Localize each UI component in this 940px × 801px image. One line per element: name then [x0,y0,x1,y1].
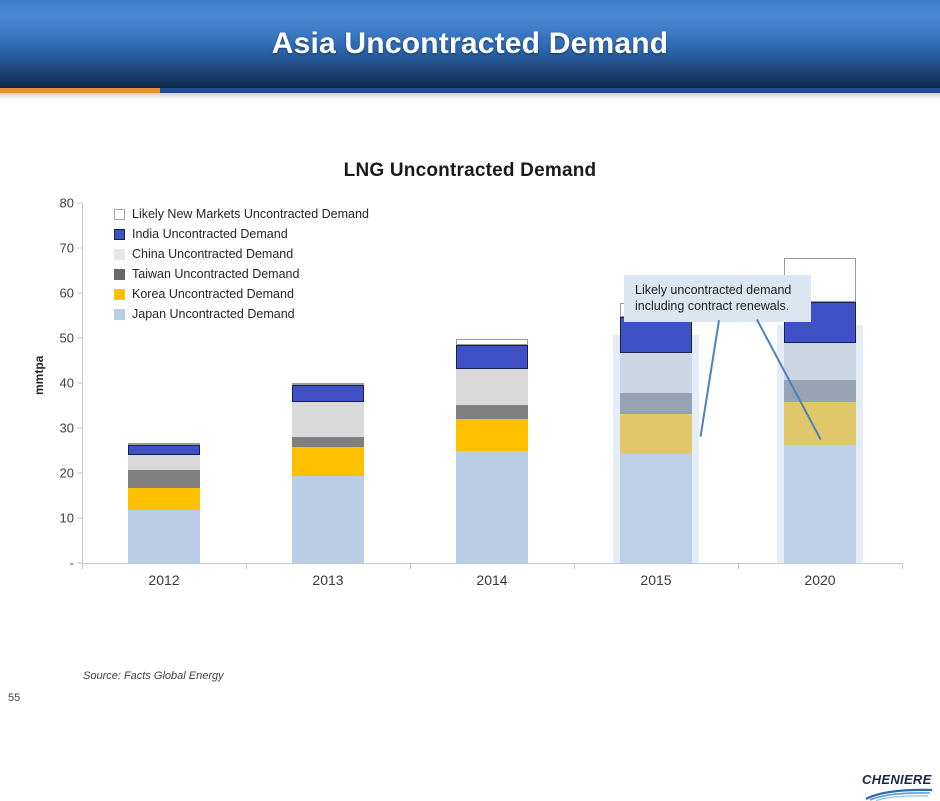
y-axis-tick-mark [77,383,82,384]
x-axis-tick-2020: 2020 [760,572,880,588]
bar-segment-china-2015[interactable] [620,353,692,393]
annotation-callout: Likely uncontracted demand including con… [624,275,811,322]
legend-item-china[interactable]: China Uncontracted Demand [114,244,369,264]
y-axis-tick-50: 50 [60,331,74,346]
legend-swatch-china-icon [114,249,125,260]
chart-legend: Likely New Markets Uncontracted DemandIn… [114,204,369,324]
banner-drop-shadow [0,93,940,100]
bar-segment-taiwan-2013[interactable] [292,437,364,447]
legend-item-newmk[interactable]: Likely New Markets Uncontracted Demand [114,204,369,224]
bar-segment-taiwan-2014[interactable] [456,405,528,420]
y-axis-tick-mark [77,518,82,519]
y-axis-tick-mark [77,428,82,429]
x-axis-tick-mark [246,563,247,569]
y-axis-tick-60: 60 [60,286,74,301]
y-axis-tick-30: 30 [60,421,74,436]
logo-wordmark: CHENIERE [862,772,932,787]
slide-body: LNG Uncontracted Demand mmtpa -102030405… [0,100,940,705]
bar-segment-japan-2020[interactable] [784,445,856,563]
bar-segment-india-2012[interactable] [128,445,200,455]
bar-segment-china-2013[interactable] [292,402,364,437]
chart-container: LNG Uncontracted Demand mmtpa -102030405… [18,160,922,660]
y-axis-tick-70: 70 [60,241,74,256]
bar-segment-korea-2014[interactable] [456,419,528,451]
bar-segment-india-2014[interactable] [456,345,528,369]
legend-item-label: Japan Uncontracted Demand [132,307,295,321]
page-title: Asia Uncontracted Demand [272,27,669,61]
cheniere-logo: CHENIERE [862,772,934,800]
logo-wave-icon [864,787,936,801]
bar-segment-japan-2015[interactable] [620,454,692,563]
y-axis-tick-mark [77,203,82,204]
bar-segment-india-2015[interactable] [620,317,692,353]
x-axis-tick-mark [82,563,83,569]
x-axis-tick-mark [902,563,903,569]
y-axis-tick-20: 20 [60,466,74,481]
x-axis-tick-2013: 2013 [268,572,388,588]
bar-segment-taiwan-2015[interactable] [620,393,692,414]
bar-segment-newmk-2014[interactable] [456,339,528,344]
bar-segment-japan-2013[interactable] [292,476,364,563]
bar-segment-korea-2013[interactable] [292,447,364,476]
legend-item-japan[interactable]: Japan Uncontracted Demand [114,304,369,324]
y-axis-tick-10: 10 [60,511,74,526]
legend-item-india[interactable]: India Uncontracted Demand [114,224,369,244]
x-axis-tick-mark [410,563,411,569]
annotation-line-2: including contract renewals. [635,298,802,314]
legend-swatch-japan-icon [114,309,125,320]
bar-segment-newmk-2012[interactable] [128,443,200,445]
y-axis-tick-mark [77,473,82,474]
bar-segment-korea-2012[interactable] [128,488,200,510]
x-axis-tick-2012: 2012 [104,572,224,588]
x-axis-tick-mark [574,563,575,569]
bar-segment-china-2014[interactable] [456,369,528,405]
legend-item-taiwan[interactable]: Taiwan Uncontracted Demand [114,264,369,284]
chart-title: LNG Uncontracted Demand [18,160,922,182]
legend-swatch-newmk-icon [114,209,125,220]
y-axis-tick-mark [77,338,82,339]
legend-item-label: Korea Uncontracted Demand [132,287,294,301]
bar-group-2013[interactable] [292,383,364,563]
y-axis-tick-mark [77,293,82,294]
slide-page-number: 55 [8,692,20,704]
x-axis-line [82,563,902,564]
annotation-line-1: Likely uncontracted demand [635,282,802,298]
bar-group-2015[interactable] [620,303,692,563]
y-axis-tick-mark [77,248,82,249]
bar-group-2014[interactable] [456,339,528,563]
bar-segment-korea-2015[interactable] [620,414,692,454]
legend-item-label: Taiwan Uncontracted Demand [132,267,299,281]
legend-item-label: China Uncontracted Demand [132,247,293,261]
bar-segment-japan-2014[interactable] [456,451,528,563]
legend-item-korea[interactable]: Korea Uncontracted Demand [114,284,369,304]
legend-item-label: India Uncontracted Demand [132,227,288,241]
x-axis-tick-2014: 2014 [432,572,552,588]
y-axis-tick-0: - [70,556,74,571]
legend-item-label: Likely New Markets Uncontracted Demand [132,207,369,221]
slide-title-banner: Asia Uncontracted Demand [0,0,940,88]
legend-swatch-taiwan-icon [114,269,125,280]
bar-segment-taiwan-2012[interactable] [128,470,200,488]
legend-swatch-korea-icon [114,289,125,300]
source-note: Source: Facts Global Energy [83,670,224,682]
y-axis-label: mmtpa [32,356,46,395]
x-axis-tick-2015: 2015 [596,572,716,588]
y-axis-tick-80: 80 [60,196,74,211]
y-axis-tick-40: 40 [60,376,74,391]
legend-swatch-india-icon [114,229,125,240]
bar-segment-china-2020[interactable] [784,343,856,380]
bar-segment-india-2013[interactable] [292,385,364,402]
bar-segment-china-2012[interactable] [128,455,200,470]
bar-group-2012[interactable] [128,443,200,563]
x-axis-tick-mark [738,563,739,569]
bar-segment-newmk-2013[interactable] [292,383,364,385]
bar-segment-japan-2012[interactable] [128,510,200,563]
